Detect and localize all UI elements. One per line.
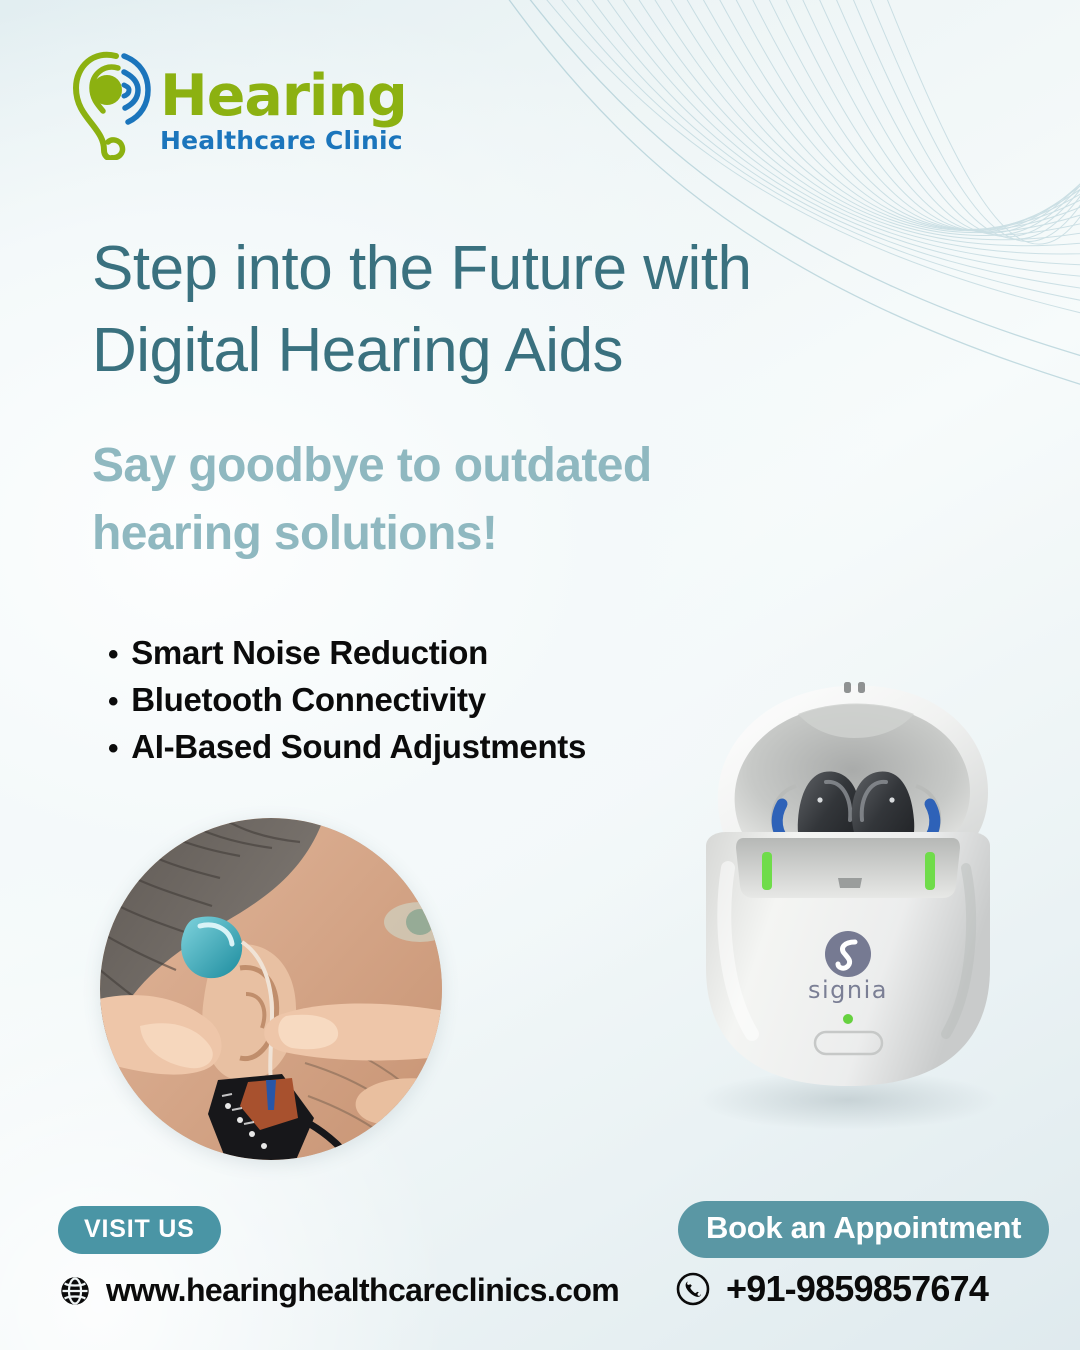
website-url[interactable]: www.hearinghealthcareclinics.com	[106, 1272, 619, 1309]
feature-label: Smart Noise Reduction	[131, 630, 488, 677]
logo-secondary-text: Healthcare Clinic	[160, 125, 407, 156]
brand-logo[interactable]: Hearing Healthcare Clinic	[66, 42, 407, 160]
visit-us-badge[interactable]: VISIT US	[58, 1206, 221, 1254]
logo-wordmark: Hearing Healthcare Clinic	[160, 69, 407, 156]
subheadline: Say goodbye to outdated hearing solution…	[92, 432, 852, 568]
globe-icon	[58, 1274, 92, 1308]
product-brand-label: signia	[808, 976, 888, 1004]
website-row[interactable]: www.hearinghealthcareclinics.com	[58, 1272, 619, 1309]
subheadline-line-2: hearing solutions!	[92, 500, 852, 568]
list-item: • AI-Based Sound Adjustments	[108, 724, 586, 771]
feature-label: Bluetooth Connectivity	[131, 677, 486, 724]
feature-list: • Smart Noise Reduction • Bluetooth Conn…	[108, 630, 586, 771]
logo-primary-text: Hearing	[160, 69, 407, 123]
bullet-icon: •	[108, 687, 118, 717]
book-appointment-button[interactable]: Book an Appointment	[678, 1201, 1049, 1258]
poster-canvas: Hearing Healthcare Clinic Step into the …	[0, 0, 1080, 1350]
phone-number[interactable]: +91-9859857674	[726, 1268, 988, 1310]
headline-line-1: Step into the Future with	[92, 228, 932, 310]
feature-label: AI-Based Sound Adjustments	[131, 724, 586, 771]
hearing-aid-charging-case-photo: signia	[648, 668, 1048, 1138]
headline: Step into the Future with Digital Hearin…	[92, 228, 932, 392]
bullet-icon: •	[108, 640, 118, 670]
list-item: • Smart Noise Reduction	[108, 630, 586, 677]
phone-circle-icon	[674, 1270, 712, 1308]
phone-row[interactable]: +91-9859857674	[674, 1268, 988, 1310]
subheadline-line-1: Say goodbye to outdated	[92, 432, 852, 500]
list-item: • Bluetooth Connectivity	[108, 677, 586, 724]
hearing-aid-fitting-photo	[100, 818, 442, 1160]
ear-soundwave-icon	[66, 42, 158, 160]
bullet-icon: •	[108, 734, 118, 764]
headline-line-2: Digital Hearing Aids	[92, 310, 932, 392]
